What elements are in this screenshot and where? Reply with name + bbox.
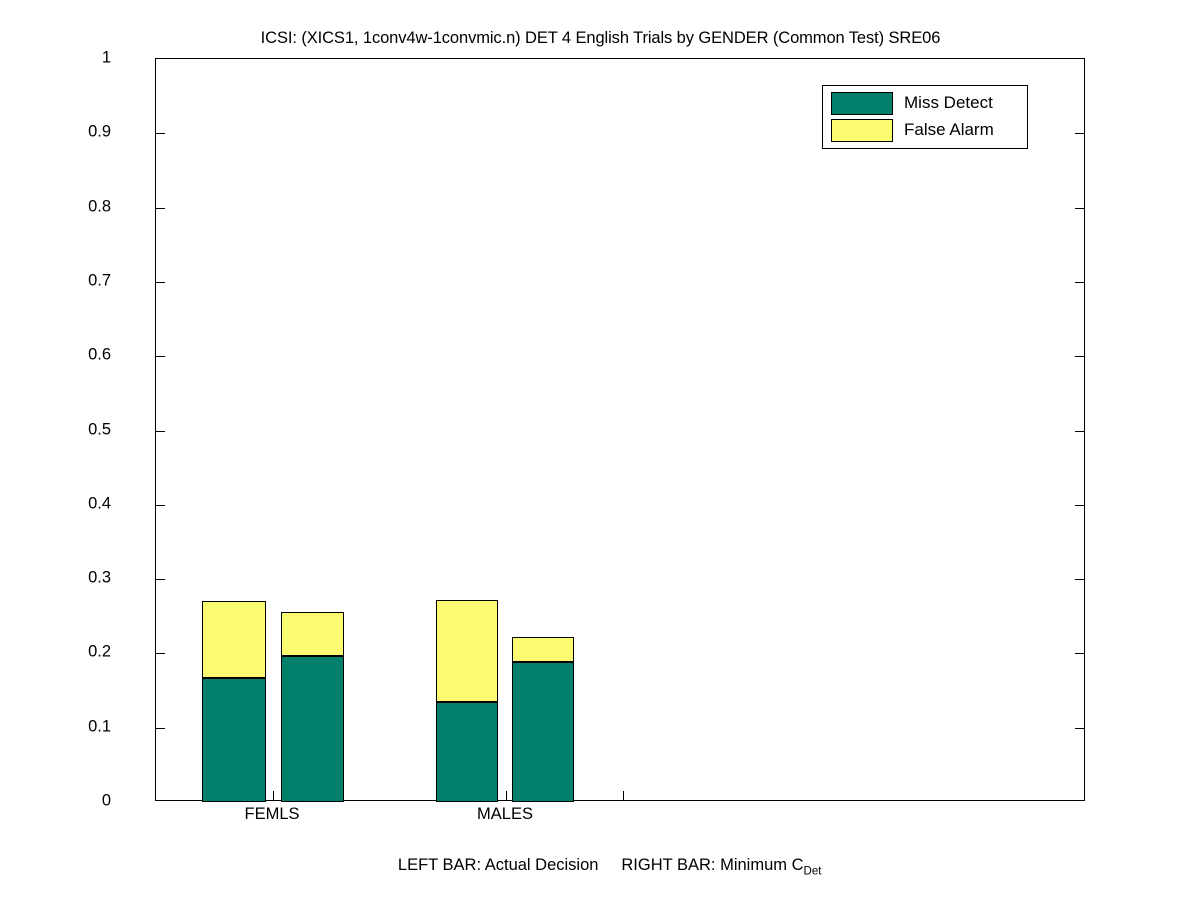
bar-stack xyxy=(281,59,344,802)
y-axis-tick-label: 0.4 xyxy=(51,494,111,513)
y-axis-tick xyxy=(156,282,165,283)
bar-segment-false-alarm xyxy=(202,601,266,678)
legend-swatch xyxy=(831,92,893,115)
matlab-figure-canvas: ICSI: (XICS1, 1conv4w-1convmic.n) DET 4 … xyxy=(0,0,1201,900)
y-axis-tick-right xyxy=(1075,133,1084,134)
legend-label: Miss Detect xyxy=(904,93,993,113)
y-axis-tick-label: 0.6 xyxy=(51,346,111,365)
y-axis-tick-right xyxy=(1075,728,1084,729)
x-axis-tick-label: MALES xyxy=(477,805,533,824)
legend-item: False Alarm xyxy=(831,118,994,142)
bar-stack xyxy=(202,59,266,802)
bar-segment-miss-detect xyxy=(281,656,344,802)
caption-right-text: RIGHT BAR: Minimum C xyxy=(621,856,803,874)
legend-item: Miss Detect xyxy=(831,91,993,115)
caption-gap xyxy=(598,856,621,874)
y-axis-tick-right xyxy=(1075,505,1084,506)
chart-title: ICSI: (XICS1, 1conv4w-1convmic.n) DET 4 … xyxy=(0,29,1201,48)
y-axis-tick-right xyxy=(1075,579,1084,580)
bar-segment-false-alarm xyxy=(512,637,574,662)
y-axis-tick xyxy=(156,133,165,134)
bar-stack xyxy=(436,59,498,802)
y-axis-tick xyxy=(156,356,165,357)
legend-label: False Alarm xyxy=(904,120,994,140)
y-axis-tick-right xyxy=(1075,356,1084,357)
y-axis-tick-label: 0.3 xyxy=(51,569,111,588)
chart-caption: LEFT BAR: Actual Decision RIGHT BAR: Min… xyxy=(0,837,1201,896)
bar-stack xyxy=(512,59,574,802)
x-axis-tick xyxy=(623,791,624,800)
caption-left-text: LEFT BAR: Actual Decision xyxy=(398,856,599,874)
y-axis-tick xyxy=(156,208,165,209)
y-axis-tick-right xyxy=(1075,208,1084,209)
bar-segment-miss-detect xyxy=(202,678,266,802)
y-axis-tick xyxy=(156,505,165,506)
y-axis-tick xyxy=(156,431,165,432)
y-axis-tick-label: 0.9 xyxy=(51,123,111,142)
x-axis-tick xyxy=(273,791,274,800)
bar-segment-miss-detect xyxy=(512,662,574,802)
x-axis-tick xyxy=(506,791,507,800)
y-axis-tick-label: 0.1 xyxy=(51,717,111,736)
y-axis-tick-right xyxy=(1075,653,1084,654)
y-axis-tick-label: 0.5 xyxy=(51,420,111,439)
bar-segment-miss-detect xyxy=(436,702,498,802)
caption-subscript: Det xyxy=(804,865,822,877)
plot-inner xyxy=(156,59,1084,800)
y-axis-tick-right xyxy=(1075,431,1084,432)
y-axis-tick-label: 0.8 xyxy=(51,197,111,216)
y-axis-tick-label: 0.7 xyxy=(51,271,111,290)
y-axis-tick-label: 1 xyxy=(51,49,111,68)
y-axis-tick xyxy=(156,728,165,729)
plot-area xyxy=(155,58,1085,801)
bar-segment-false-alarm xyxy=(436,600,498,702)
y-axis-tick-label: 0 xyxy=(51,792,111,811)
x-axis-tick-label: FEMLS xyxy=(244,805,299,824)
chart-legend: Miss DetectFalse Alarm xyxy=(822,85,1028,149)
y-axis-tick xyxy=(156,579,165,580)
y-axis-tick-label: 0.2 xyxy=(51,643,111,662)
bar-segment-false-alarm xyxy=(281,612,344,657)
y-axis-tick-right xyxy=(1075,282,1084,283)
y-axis-tick xyxy=(156,653,165,654)
legend-swatch xyxy=(831,119,893,142)
